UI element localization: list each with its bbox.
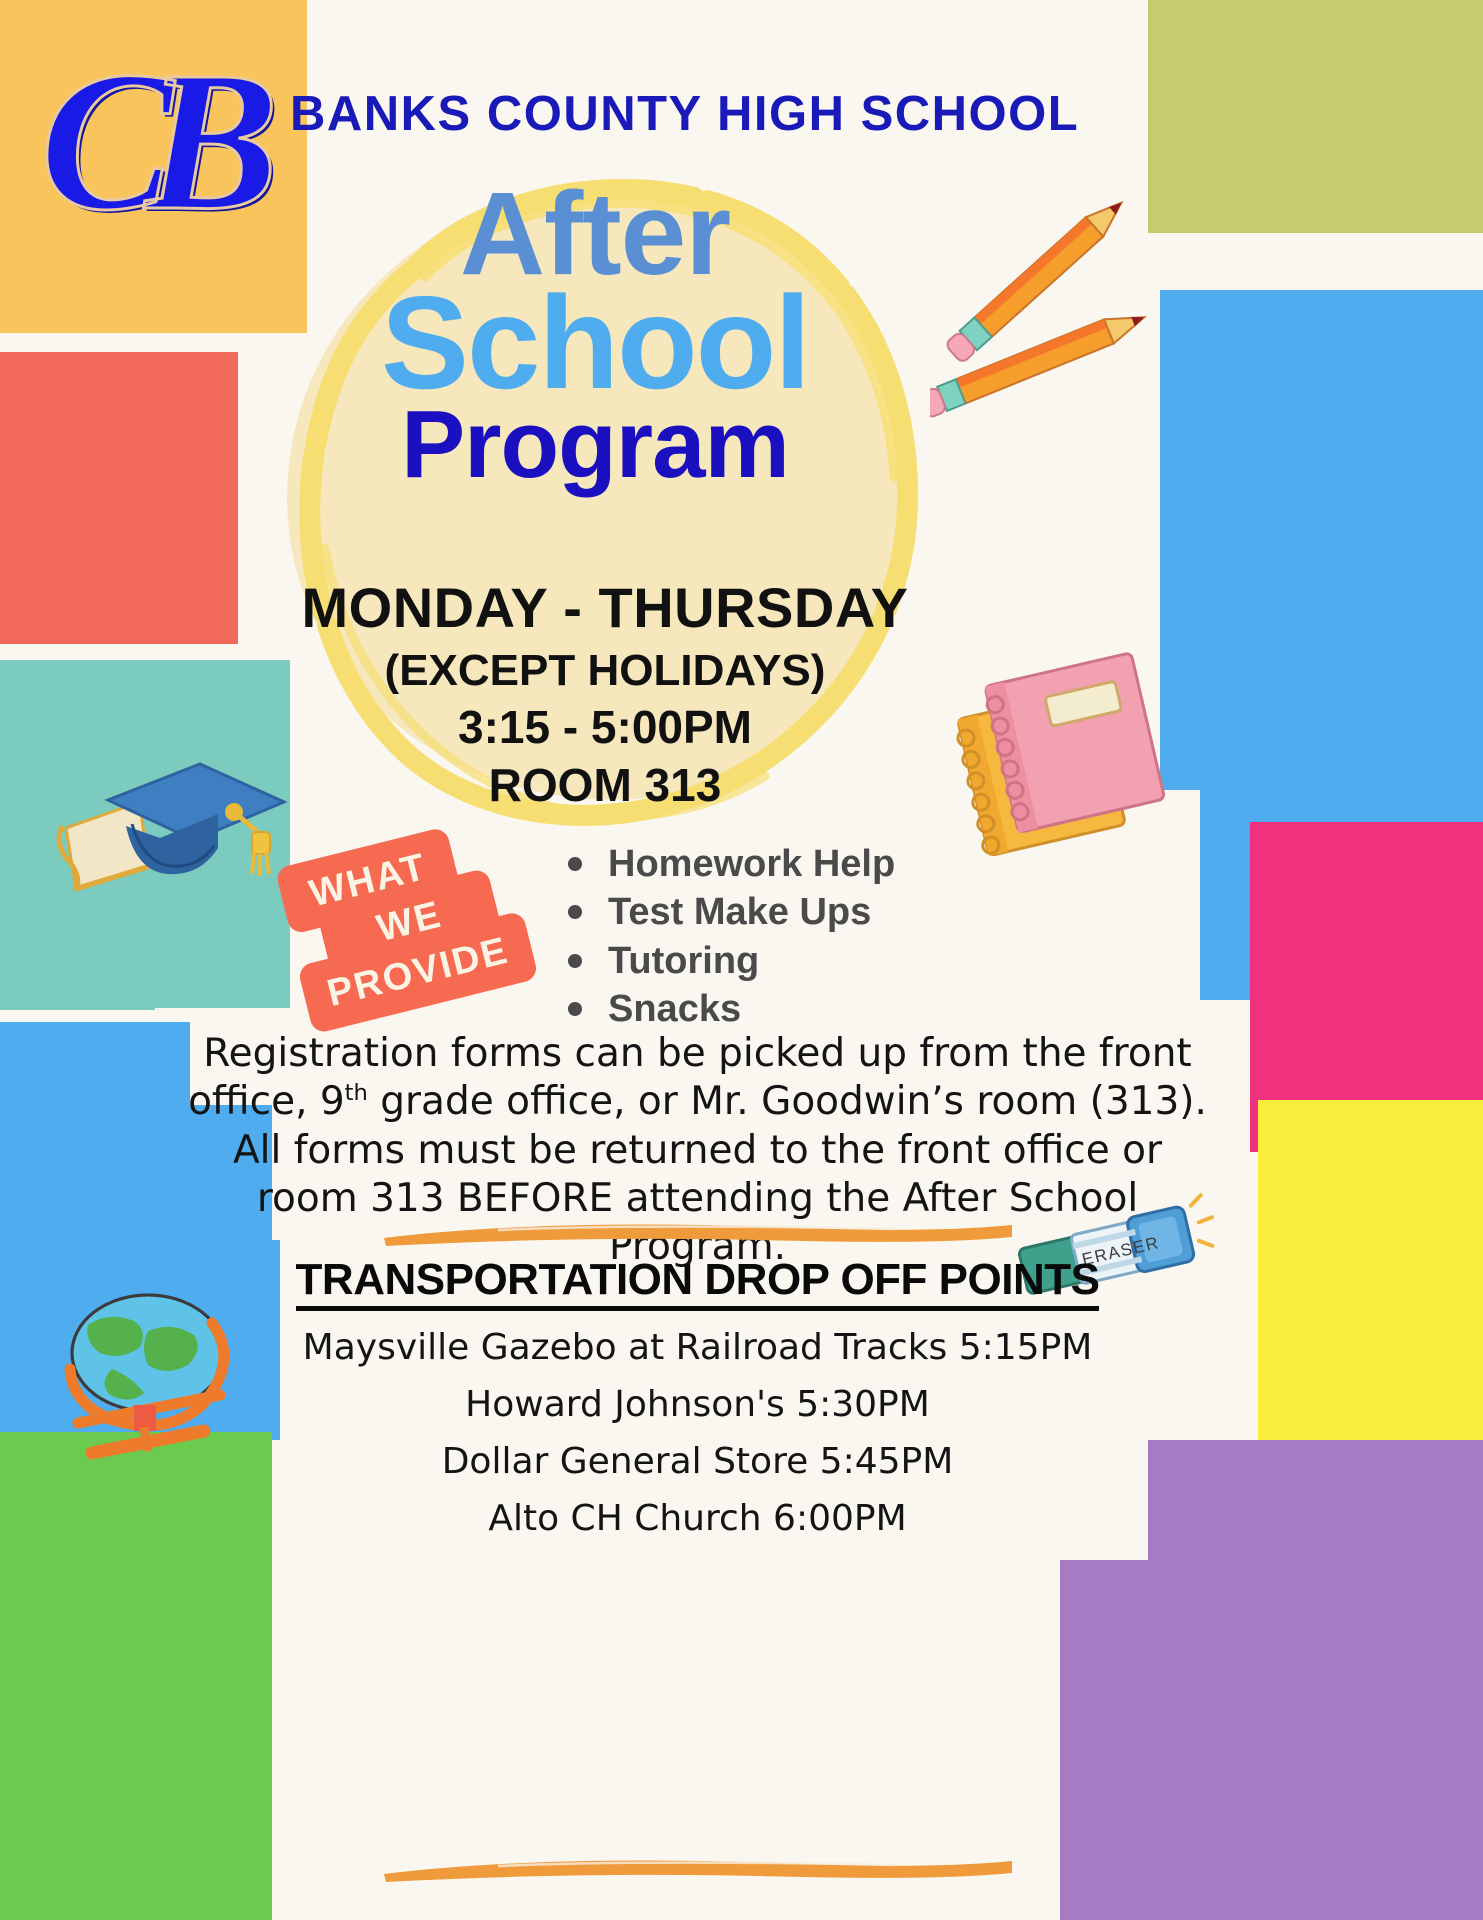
- transportation-title-text: TRANSPORTATION DROP OFF POINTS: [296, 1255, 1100, 1311]
- list-item: Snacks: [560, 985, 895, 1033]
- schedule-room: ROOM 313: [265, 758, 945, 812]
- decor-block-purple-right-2: [1060, 1560, 1483, 1920]
- orange-brush-divider-top: [378, 1216, 1018, 1250]
- list-item: Test Make Ups: [560, 888, 895, 936]
- graduation-cap-icon: [48, 740, 288, 900]
- decor-block-olive-right-2: [1148, 0, 1483, 58]
- logo-monogram: CB: [40, 52, 280, 232]
- notebooks-icon: [950, 645, 1190, 860]
- school-logo: CB: [40, 52, 280, 242]
- school-name-heading: BANKS COUNTY HIGH SCHOOL: [290, 86, 1079, 142]
- list-item: Maysville Gazebo at Railroad Tracks 5:15…: [180, 1320, 1215, 1377]
- list-item: Alto CH Church 6:00PM: [180, 1491, 1215, 1548]
- page-title: After School Program: [265, 180, 925, 490]
- transportation-stop-list: Maysville Gazebo at Railroad Tracks 5:15…: [180, 1320, 1215, 1548]
- schedule-days: MONDAY - THURSDAY: [265, 575, 945, 640]
- title-line-school: School: [265, 282, 925, 405]
- schedule-holidays: (EXCEPT HOLIDAYS): [265, 646, 945, 696]
- title-line-program: Program: [265, 400, 925, 489]
- list-item: Dollar General Store 5:45PM: [180, 1434, 1215, 1491]
- transportation-heading: TRANSPORTATION DROP OFF POINTS: [180, 1255, 1215, 1305]
- decor-block-olive-right-3: [1148, 58, 1483, 233]
- pencils-icon: [930, 190, 1180, 440]
- schedule-time: 3:15 - 5:00PM: [265, 700, 945, 754]
- list-item: Tutoring: [560, 937, 895, 985]
- registration-ordinal-suffix: th: [345, 1080, 368, 1106]
- decor-block-coral-left-2: [0, 352, 175, 572]
- orange-brush-divider-bottom: [378, 1852, 1018, 1886]
- decor-block-yellow-right: [1258, 1100, 1483, 1445]
- decor-block-green-left-2: [0, 1432, 130, 1920]
- provides-list: Homework Help Test Make Ups Tutoring Sna…: [560, 840, 895, 1033]
- list-item: Homework Help: [560, 840, 895, 888]
- schedule-block: MONDAY - THURSDAY (EXCEPT HOLIDAYS) 3:15…: [265, 575, 945, 812]
- flyer-canvas: CB BANKS COUNTY HIGH SCHOOL After School…: [0, 0, 1483, 1920]
- list-item: Howard Johnson's 5:30PM: [180, 1377, 1215, 1434]
